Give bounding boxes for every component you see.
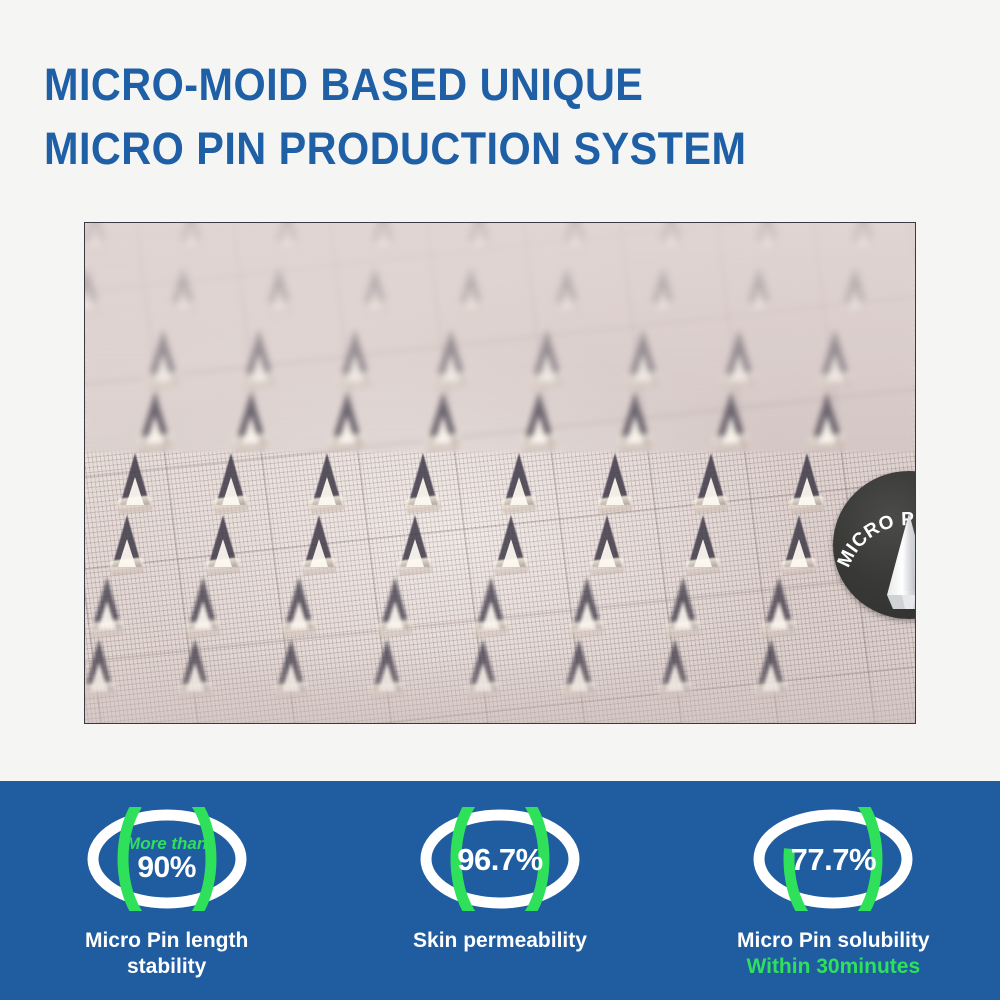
micro-pin-highlight — [414, 477, 432, 505]
stat-card-2: 96.7%Skin permeability — [333, 781, 666, 1000]
page-header: MICRO-MOID BASED UNIQUE MICRO PIN PRODUC… — [0, 0, 1000, 200]
micro-pin-highlight — [386, 601, 404, 629]
stat-label-line-2: stability — [127, 955, 206, 978]
stats-panel: More than90%Micro Pin lengthstability96.… — [0, 781, 1000, 1000]
ring-track — [93, 815, 241, 903]
progress-ring-svg — [749, 807, 917, 911]
progress-ring-3: 77.7% — [749, 807, 917, 911]
micro-pin-highlight — [674, 601, 692, 629]
micro-pin-highlight — [222, 477, 240, 505]
progress-ring-2: 96.7% — [416, 807, 584, 911]
stats-row: More than90%Micro Pin lengthstability96.… — [0, 781, 1000, 1000]
micro-pin-highlight — [770, 601, 788, 629]
stat-label: Micro Pin solubility — [737, 929, 930, 952]
stat-card-1: More than90%Micro Pin lengthstability — [0, 781, 333, 1000]
micro-pin-highlight — [702, 477, 720, 505]
stat-label: Micro Pin length — [85, 929, 248, 952]
photo-depth-blur-bottom — [85, 653, 915, 723]
micro-pin-highlight — [694, 539, 712, 567]
micro-pin-highlight — [578, 601, 596, 629]
micro-pin-highlight — [214, 539, 232, 567]
micro-pin-count-badge: MICRO PIN 200EA — [833, 471, 916, 619]
micro-pin-highlight — [606, 477, 624, 505]
micro-pin-highlight — [482, 601, 500, 629]
micro-pin-highlight — [126, 477, 144, 505]
micro-pin-highlight — [406, 539, 424, 567]
ring-track — [426, 815, 574, 903]
micro-pin-highlight — [790, 539, 808, 567]
stat-label-block-2: Skin permeability — [350, 928, 650, 954]
micro-pin-highlight — [290, 601, 308, 629]
micro-pin-highlight — [310, 539, 328, 567]
micro-pin-highlight — [798, 477, 816, 505]
micro-pin-highlight — [318, 477, 336, 505]
micro-pin-highlight — [194, 601, 212, 629]
stat-card-3: 77.7%Micro Pin solubilityWithin 30minute… — [667, 781, 1000, 1000]
stat-label: Skin permeability — [413, 929, 587, 952]
progress-ring-svg — [416, 807, 584, 911]
micro-pin-highlight — [98, 601, 116, 629]
micro-pin-highlight — [598, 539, 616, 567]
stat-label-block-3: Micro Pin solubilityWithin 30minutes — [683, 928, 983, 981]
ring-track — [759, 815, 907, 903]
stat-label-block-1: Micro Pin lengthstability — [17, 928, 317, 981]
micro-pin-highlight — [510, 477, 528, 505]
micro-mold-photo: MICRO PIN 200EA — [84, 222, 916, 724]
photo-depth-blur-top — [85, 223, 915, 453]
progress-ring-svg — [83, 807, 251, 911]
micro-pin-highlight — [118, 539, 136, 567]
page-title-line-2: MICRO PIN PRODUCTION SYSTEM — [44, 126, 746, 171]
stat-sublabel: Within 30minutes — [683, 954, 983, 980]
page-title-line-1: MICRO-MOID BASED UNIQUE — [44, 62, 643, 107]
progress-ring-1: More than90% — [83, 807, 251, 911]
micro-pin-cone-icon — [878, 511, 916, 609]
micro-pin-highlight — [502, 539, 520, 567]
